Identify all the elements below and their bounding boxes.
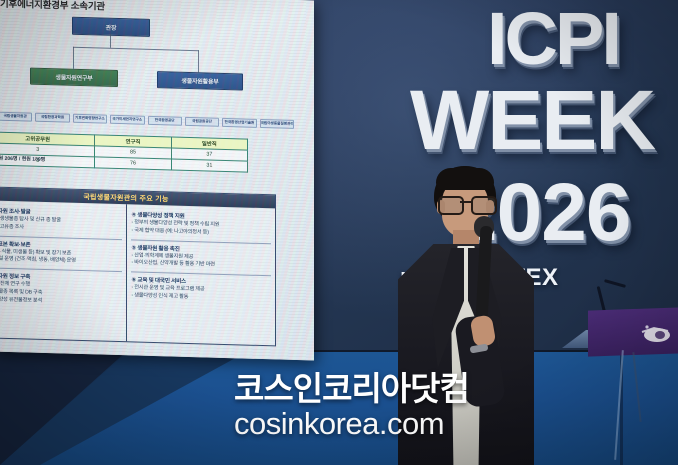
function-item: ① 생물자원 조사·발굴 - 국내 자생생물종 탐사 및 신규 종 발굴 - 한… xyxy=(0,203,122,240)
org-connector-vertical xyxy=(110,34,111,48)
org-subunit: 국가미세먼지연구소 xyxy=(110,115,144,125)
speaker-fringe xyxy=(436,168,494,190)
table-cell: 76 xyxy=(95,157,171,170)
glasses-lens-right xyxy=(471,196,497,215)
org-subunit: 한국환경공단 xyxy=(148,116,182,126)
speaker-figure xyxy=(398,166,534,465)
speaker-glasses xyxy=(438,196,494,212)
staff-table: 고위공무원 연구직 일반직 3 85 37 3 76 31 xyxy=(0,131,248,172)
org-box-utilization-dept: 생물자원활용부 xyxy=(157,71,243,90)
function-item: ② 생물표본 확보·보존 - 표본(동·식물, 미생물 등) 확보 및 장기 보… xyxy=(0,236,122,273)
org-subunit-row: 국립생물자원관 국립환경과학원 기후변화영향연구소 국가미세먼지연구소 한국환경… xyxy=(0,112,294,129)
staff-table-note: 정원 206명 / 현원 189명 xyxy=(0,155,45,163)
functions-right-column: ④ 생물다양성 정책 지원 - 정부의 생물다양성 전략 및 정책 수립 지원 … xyxy=(127,204,276,345)
org-subunit: 한국환경산업기술원 xyxy=(222,118,256,128)
glasses-lens-left xyxy=(438,196,464,215)
org-subunit: 국립공원공단 xyxy=(185,117,219,127)
org-subunit: 기후변화영향연구소 xyxy=(73,114,107,124)
org-box-research-dept: 생물자원연구부 xyxy=(30,68,118,87)
function-item: ⑤ 생물자원 활용 촉진 - 산업·의학계에 생물지원 제공 - 바이오산업, … xyxy=(131,240,272,277)
org-box-head: 관장 xyxy=(72,17,150,37)
org-subunit: 국립환경과학원 xyxy=(35,113,69,123)
org-subunit: 국립생물자원관 xyxy=(0,112,32,122)
org-connector-right xyxy=(198,50,199,72)
table-cell: 31 xyxy=(171,159,247,172)
signage-icpi: ICPI xyxy=(487,2,619,76)
conference-photo: ICPI WEEK 2026 pril 3 KINTEX 기후에너지환경부 소속… xyxy=(0,0,678,465)
signage-week: WEEK xyxy=(410,78,654,162)
podium-emblem-icon xyxy=(638,322,672,346)
org-connector-left xyxy=(73,47,74,69)
org-connector-horizontal xyxy=(73,47,199,52)
functions-box: 국립생물자원관의 주요 기능 ① 생물자원 조사·발굴 - 국내 자생생물종 탐… xyxy=(0,186,276,346)
function-item: ⑥ 교육 및 대국민 서비스 - 전시관 운영 및 교육 프로그램 제공 - 생… xyxy=(131,273,272,309)
projection-screen: 기후에너지환경부 소속기관 관장 생물자원연구부 생물자원활용부 국립생물자원관… xyxy=(0,0,314,360)
slide-title: 기후에너지환경부 소속기관 xyxy=(0,0,105,13)
function-item: ③ 생물자원 정보 구축 - 분류·유전체 연구 수행 - 국가생물종 목록 및… xyxy=(0,268,122,311)
function-item: ④ 생물다양성 정책 지원 - 정부의 생물다양성 전략 및 정책 수립 지원 … xyxy=(131,207,272,244)
functions-left-column: ① 생물자원 조사·발굴 - 국내 자생생물종 탐사 및 신규 종 발굴 - 한… xyxy=(0,200,127,341)
functions-box-body: ① 생물자원 조사·발굴 - 국내 자생생물종 탐사 및 신규 종 발굴 - 한… xyxy=(0,200,275,345)
org-subunit: 국립야생동물질병관리원 xyxy=(260,119,294,129)
slide-surface: 기후에너지환경부 소속기관 관장 생물자원연구부 생물자원활용부 국립생물자원관… xyxy=(0,0,314,360)
